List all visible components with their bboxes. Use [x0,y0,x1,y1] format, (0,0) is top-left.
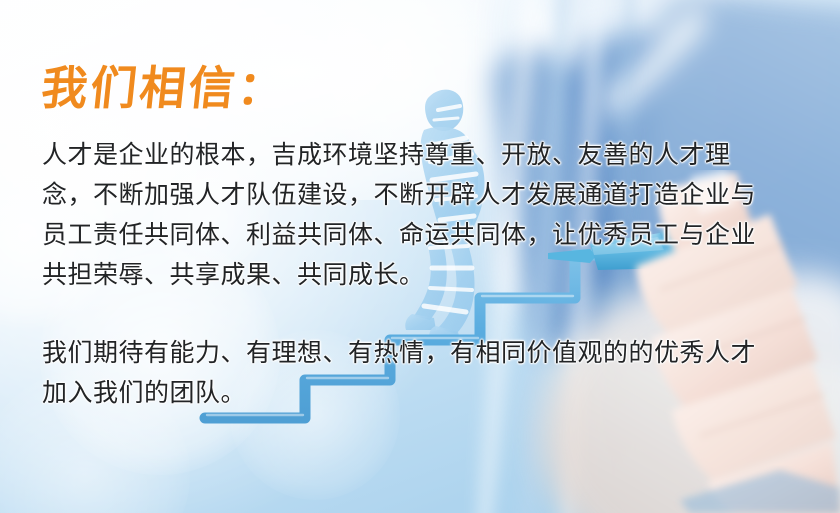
paragraph-2: 我们期待有能力、有理想、有热情，有相同价值观的的优秀人才 加入我们的团队。 [42,333,762,413]
page-title: 我们相信： [39,52,291,118]
paragraph-2-line: 加入我们的团队。 [42,373,762,413]
paragraph-1: 人才是企业的根本，吉成环境坚持尊重、开放、友善的人才理 念，不断加强人才队伍建设… [42,135,762,295]
paragraph-1-line: 人才是企业的根本，吉成环境坚持尊重、开放、友善的人才理 [42,135,762,175]
paragraph-1-line: 员工责任共同体、利益共同体、命运共同体，让优秀员工与企业 [42,215,762,255]
paragraph-2-line: 我们期待有能力、有理想、有热情，有相同价值观的的优秀人才 [42,333,762,373]
recruitment-banner: 我们相信： 人才是企业的根本，吉成环境坚持尊重、开放、友善的人才理 念，不断加强… [0,0,840,513]
paragraph-1-line: 共担荣辱、共享成果、共同成长。 [42,255,762,295]
paragraph-1-line: 念，不断加强人才队伍建设，不断开辟人才发展通道打造企业与 [42,175,762,215]
